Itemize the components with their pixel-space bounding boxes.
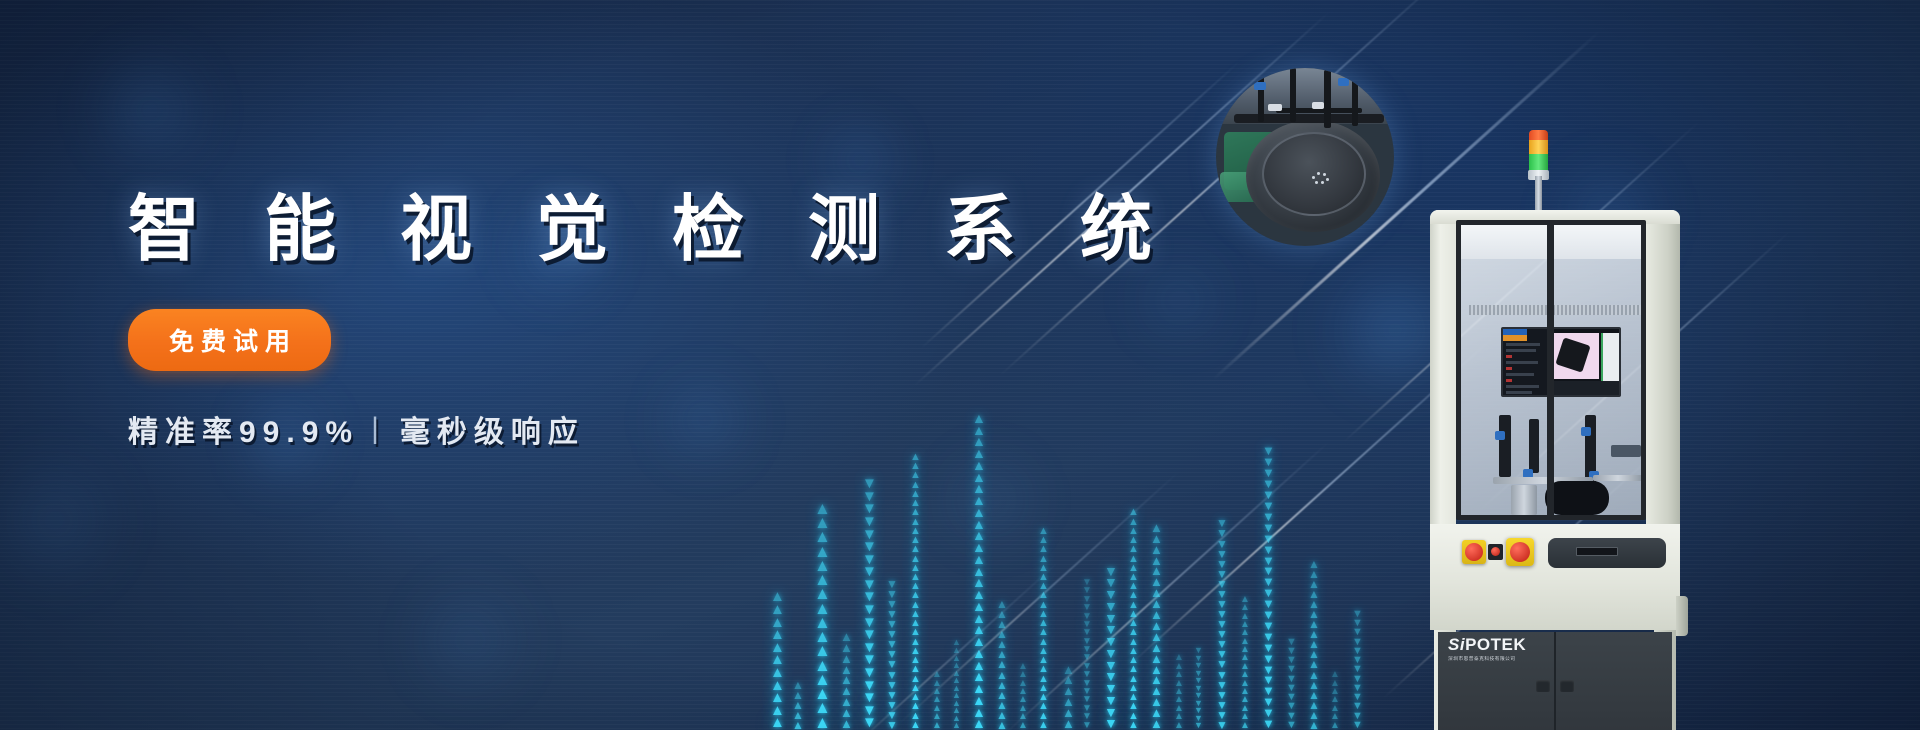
arrow-down-icon: ▼ [1104, 624, 1118, 636]
arrow-up-icon: ▲ [996, 690, 1008, 700]
arrow-up-icon: ▲ [1308, 619, 1320, 629]
arrow-down-icon: ▼ [1082, 629, 1092, 637]
arrow-up-icon: ▲ [840, 686, 853, 697]
arrow-down-icon: ▼ [1352, 702, 1363, 711]
arrow-column: ▲▲▲▲▲▲▲▲▲ [1174, 654, 1184, 730]
inset-arm-4 [1352, 76, 1358, 126]
arrow-up-icon: ▲ [972, 495, 986, 507]
arrow-down-icon: ▼ [1194, 670, 1203, 678]
arrow-up-icon: ▲ [814, 502, 831, 516]
arrow-down-icon: ▼ [1104, 636, 1118, 648]
arrow-up-icon: ▲ [792, 680, 804, 690]
arrow-up-icon: ▲ [1308, 659, 1320, 669]
arrow-down-icon: ▼ [1082, 613, 1092, 621]
door-handle-right[interactable] [1560, 680, 1574, 692]
arrow-down-icon: ▼ [862, 629, 877, 642]
arrow-up-icon: ▲ [952, 692, 961, 700]
arrow-up-icon: ▲ [1240, 596, 1250, 604]
arrow-column: ▲▲▲▲▲▲▲▲▲ [840, 632, 853, 730]
arrow-up-icon: ▲ [814, 659, 831, 673]
arrow-down-icon: ▼ [1216, 649, 1228, 659]
arrow-up-icon: ▲ [952, 685, 961, 693]
arrow-column: ▼▼▼▼▼▼▼▼▼▼▼▼▼▼▼▼▼▼▼▼▼ [1216, 518, 1228, 730]
arrow-up-icon: ▲ [1038, 628, 1049, 637]
inspection-monitor [1501, 327, 1621, 397]
arrow-up-icon: ▲ [1128, 536, 1139, 545]
arrow-up-icon: ▲ [1330, 696, 1340, 704]
arrow-down-icon: ▼ [886, 609, 898, 619]
arrow-up-icon: ▲ [1018, 688, 1028, 696]
arrow-down-icon: ▼ [862, 554, 877, 567]
hero-subline: 精准率99.9% | 毫秒级响应 [128, 407, 968, 451]
arrow-up-icon: ▲ [1128, 582, 1139, 591]
arrow-down-icon: ▼ [1082, 638, 1092, 646]
arrow-down-icon: ▼ [1216, 680, 1228, 690]
arrow-up-icon: ▲ [840, 665, 853, 676]
arrow-up-icon: ▲ [952, 715, 961, 723]
arrow-down-icon: ▼ [886, 680, 898, 690]
arrow-up-icon: ▲ [972, 554, 986, 566]
arrow-down-icon: ▼ [886, 700, 898, 710]
arrow-column: ▲▲▲▲▲▲▲▲▲▲▲▲▲ [996, 599, 1008, 730]
arrow-up-icon: ▲ [1240, 654, 1250, 662]
arrow-down-icon: ▼ [862, 680, 877, 693]
arrow-down-icon: ▼ [1286, 675, 1297, 684]
arrow-down-icon: ▼ [1104, 683, 1118, 695]
arrow-down-icon: ▼ [886, 649, 898, 659]
arrow-down-icon: ▼ [1286, 684, 1297, 693]
arrow-up-icon: ▲ [840, 643, 853, 654]
arrow-up-icon: ▲ [972, 671, 986, 683]
arrow-up-icon: ▲ [952, 722, 961, 730]
arrow-up-icon: ▲ [1038, 675, 1049, 684]
arrow-column: ▲▲▲▲▲▲▲ [932, 671, 942, 730]
arrow-down-icon: ▼ [1216, 528, 1228, 538]
arrow-down-icon: ▼ [1286, 712, 1297, 721]
arrow-up-icon: ▲ [910, 647, 921, 656]
arrow-up-icon: ▲ [972, 413, 986, 425]
arrow-up-icon: ▲ [1062, 708, 1075, 719]
arrow-down-icon: ▼ [886, 589, 898, 599]
arrow-up-icon: ▲ [1038, 536, 1049, 545]
arrow-up-icon: ▲ [814, 687, 831, 701]
arrow-up-icon: ▲ [840, 675, 853, 686]
arrow-up-icon: ▲ [1174, 671, 1184, 679]
arrow-up-icon: ▲ [1038, 545, 1049, 554]
arrow-up-icon: ▲ [1128, 684, 1139, 693]
arrow-down-icon: ▼ [1194, 655, 1203, 663]
arrow-column: ▲▲▲▲▲▲▲▲▲▲▲▲▲▲▲▲ [1240, 596, 1250, 730]
inset-blue-fitting-1 [1254, 82, 1266, 90]
arrow-down-icon: ▼ [1262, 545, 1275, 556]
emergency-stop-button-2[interactable] [1510, 542, 1530, 562]
arrow-up-icon: ▲ [1240, 713, 1250, 721]
arrow-up-icon: ▲ [1150, 577, 1163, 588]
arrow-up-icon: ▲ [932, 722, 942, 730]
arrow-up-icon: ▲ [1128, 527, 1139, 536]
arrow-up-icon: ▲ [972, 577, 986, 589]
arrow-down-icon: ▼ [1352, 712, 1363, 721]
arrow-down-icon: ▼ [1262, 588, 1275, 599]
arrow-up-icon: ▲ [932, 680, 942, 688]
arrow-up-icon: ▲ [840, 654, 853, 665]
rig-blue-block [1611, 445, 1641, 457]
arrow-down-icon: ▼ [1352, 665, 1363, 674]
inset-arm-2 [1290, 68, 1296, 122]
stack-light-pole [1535, 176, 1542, 212]
arrow-down-icon: ▼ [862, 541, 877, 554]
arrow-up-icon: ▲ [910, 508, 921, 517]
arrow-up-icon: ▲ [1308, 609, 1320, 619]
arrow-column: ▼▼▼▼▼▼▼▼▼▼▼▼▼▼▼ [886, 579, 898, 730]
arrow-up-icon: ▲ [972, 448, 986, 460]
arrow-column: ▲▲▲▲▲▲▲▲▲▲▲▲ [952, 639, 961, 730]
arrow-down-icon: ▼ [1262, 643, 1275, 654]
arrow-down-icon: ▼ [1286, 665, 1297, 674]
arrow-up-icon: ▲ [1128, 508, 1139, 517]
arrow-down-icon: ▼ [1104, 566, 1118, 578]
arrow-down-icon: ▼ [862, 491, 877, 504]
arrow-down-icon: ▼ [1286, 721, 1297, 730]
arrow-down-icon: ▼ [886, 659, 898, 669]
arrow-up-icon: ▲ [770, 591, 785, 604]
arrow-up-icon: ▲ [1128, 712, 1139, 721]
arrow-up-icon: ▲ [770, 642, 785, 655]
arrow-up-icon: ▲ [814, 530, 831, 544]
arrow-down-icon: ▼ [1104, 613, 1118, 625]
arrow-up-icon: ▲ [1150, 675, 1163, 686]
arrow-up-icon: ▲ [1150, 534, 1163, 545]
arrow-up-icon: ▲ [1038, 647, 1049, 656]
hero-content: 智 能 视 觉 检 测 系 统 免费试用 精准率99.9% | 毫秒级响应 [128, 170, 968, 451]
arrow-up-icon: ▲ [1174, 696, 1184, 704]
arrow-up-icon: ▲ [1308, 690, 1320, 700]
arrow-up-icon: ▲ [1062, 697, 1075, 708]
arrow-down-icon: ▼ [1352, 619, 1363, 628]
arrow-down-icon: ▼ [1216, 569, 1228, 579]
arrow-down-icon: ▼ [1082, 579, 1092, 587]
arrow-down-icon: ▼ [1194, 700, 1203, 708]
emergency-stop-button-1[interactable] [1465, 543, 1483, 561]
arrow-up-icon: ▲ [792, 700, 804, 710]
arrow-up-icon: ▲ [1038, 721, 1049, 730]
arrow-down-icon: ▼ [1104, 589, 1118, 601]
arrow-down-icon: ▼ [1194, 692, 1203, 700]
arrow-up-icon: ▲ [1038, 527, 1049, 536]
arrow-up-icon: ▲ [1240, 663, 1250, 671]
arrow-up-icon: ▲ [1038, 619, 1049, 628]
arrow-up-icon: ▲ [1330, 705, 1340, 713]
free-trial-button[interactable]: 免费试用 [128, 309, 331, 371]
page-title: 智 能 视 觉 检 测 系 统 [128, 170, 968, 275]
arrow-up-icon: ▲ [910, 693, 921, 702]
arrow-up-icon: ▲ [1128, 601, 1139, 610]
rig-right-rail [1593, 475, 1643, 481]
arrow-up-icon: ▲ [910, 601, 921, 610]
inset-arm-3 [1324, 70, 1331, 128]
arrow-up-icon: ▲ [1018, 713, 1028, 721]
arrow-up-icon: ▲ [1174, 705, 1184, 713]
arrow-down-icon: ▼ [1262, 457, 1275, 468]
arrow-column: ▲▲▲▲▲▲▲▲▲▲▲▲▲▲▲▲▲▲▲ [1150, 523, 1163, 730]
arrow-up-icon: ▲ [1018, 696, 1028, 704]
arrow-up-icon: ▲ [1150, 632, 1163, 643]
arrow-down-icon: ▼ [1262, 632, 1275, 643]
arrow-up-icon: ▲ [996, 619, 1008, 629]
arrow-up-icon: ▲ [972, 542, 986, 554]
arrow-down-icon: ▼ [1104, 718, 1118, 730]
arrow-up-icon: ▲ [972, 436, 986, 448]
arrow-up-icon: ▲ [910, 591, 921, 600]
monitor-orange-bar [1503, 335, 1527, 341]
arrow-up-icon: ▲ [792, 710, 804, 720]
arrow-up-icon: ▲ [972, 507, 986, 519]
arrow-up-icon: ▲ [972, 636, 986, 648]
arrow-down-icon: ▼ [1262, 621, 1275, 632]
arrow-up-icon: ▲ [1240, 604, 1250, 612]
brand-name-potek: POTEK [1465, 635, 1526, 654]
arrow-down-icon: ▼ [862, 529, 877, 542]
arrow-down-icon: ▼ [1262, 719, 1275, 730]
rig-cable-loop [1545, 481, 1609, 515]
arrow-up-icon: ▲ [932, 688, 942, 696]
arrow-down-icon: ▼ [886, 690, 898, 700]
arrow-up-icon: ▲ [972, 566, 986, 578]
arrow-up-icon: ▲ [1174, 688, 1184, 696]
arrow-up-icon: ▲ [814, 673, 831, 687]
bokeh-glow [0, 450, 125, 590]
rig-fixture [1511, 485, 1537, 515]
arrow-down-icon: ▼ [1216, 639, 1228, 649]
arrow-up-icon: ▲ [1240, 613, 1250, 621]
arrow-column: ▲▲▲▲▲▲▲▲▲▲▲▲▲▲▲▲ [814, 502, 831, 730]
arrow-down-icon: ▼ [1262, 490, 1275, 501]
arrow-up-icon: ▲ [770, 617, 785, 630]
arrow-down-icon: ▼ [1216, 670, 1228, 680]
arrow-down-icon: ▼ [1262, 675, 1275, 686]
arrow-up-icon: ▲ [814, 559, 831, 573]
arrow-down-icon: ▼ [1352, 628, 1363, 637]
arrow-up-icon: ▲ [972, 519, 986, 531]
arrow-up-icon: ▲ [910, 536, 921, 545]
arrow-up-icon: ▲ [1038, 555, 1049, 564]
arrow-up-icon: ▲ [1240, 646, 1250, 654]
arrow-down-icon: ▼ [1104, 695, 1118, 707]
arrow-down-icon: ▼ [862, 579, 877, 592]
arrow-up-icon: ▲ [1018, 722, 1028, 730]
arrow-up-icon: ▲ [1038, 665, 1049, 674]
arrow-up-icon: ▲ [972, 601, 986, 613]
arrow-up-icon: ▲ [996, 609, 1008, 619]
arrow-up-icon: ▲ [770, 680, 785, 693]
arrow-down-icon: ▼ [1262, 523, 1275, 534]
rig-blue-fitting-3 [1581, 427, 1591, 436]
monitor-bottom-log [1547, 381, 1621, 397]
arrow-up-icon: ▲ [910, 619, 921, 628]
brand-name-text: SiPOTEK [1448, 636, 1568, 653]
arrow-down-icon: ▼ [862, 591, 877, 604]
arrow-up-icon: ▲ [1330, 680, 1340, 688]
arrow-up-icon: ▲ [1128, 628, 1139, 637]
arrow-up-icon: ▲ [814, 602, 831, 616]
arrow-down-icon: ▼ [1352, 638, 1363, 647]
arrow-down-icon: ▼ [1262, 654, 1275, 665]
arrow-up-icon: ▲ [952, 639, 961, 647]
arrow-down-icon: ▼ [862, 503, 877, 516]
arrow-up-icon: ▲ [996, 680, 1008, 690]
arrow-up-icon: ▲ [972, 660, 986, 672]
arrow-up-icon: ▲ [910, 527, 921, 536]
arrow-down-icon: ▼ [1216, 549, 1228, 559]
arrow-up-icon: ▲ [952, 670, 961, 678]
arrow-up-icon: ▲ [1128, 656, 1139, 665]
arrow-up-icon: ▲ [814, 630, 831, 644]
arrow-up-icon: ▲ [814, 716, 831, 730]
arrow-down-icon: ▼ [1262, 697, 1275, 708]
arrow-up-icon: ▲ [1174, 663, 1184, 671]
arrow-down-icon: ▼ [1194, 647, 1203, 655]
arrow-column: ▼▼▼▼▼▼▼▼▼▼▼▼▼ [1352, 610, 1363, 730]
arrow-up-icon: ▲ [972, 613, 986, 625]
arrow-down-icon: ▼ [1216, 619, 1228, 629]
arrow-down-icon: ▼ [886, 639, 898, 649]
arrow-up-icon: ▲ [1038, 610, 1049, 619]
arrow-up-icon: ▲ [1308, 629, 1320, 639]
arrow-up-icon: ▲ [1018, 671, 1028, 679]
arrow-up-icon: ▲ [1150, 686, 1163, 697]
light-streak [1002, 440, 1330, 730]
arrow-up-icon: ▲ [1240, 688, 1250, 696]
arrow-up-icon: ▲ [1330, 671, 1340, 679]
arrow-up-icon: ▲ [1150, 566, 1163, 577]
arrow-up-icon: ▲ [1150, 599, 1163, 610]
arrow-down-icon: ▼ [862, 478, 877, 491]
arrow-down-icon: ▼ [886, 619, 898, 629]
arrow-up-icon: ▲ [1128, 545, 1139, 554]
arrow-up-icon: ▲ [972, 624, 986, 636]
arrow-down-icon: ▼ [862, 617, 877, 630]
arrow-down-icon: ▼ [1262, 479, 1275, 490]
arrow-up-icon: ▲ [814, 573, 831, 587]
arrow-down-icon: ▼ [1082, 596, 1092, 604]
product-machine-cabinet: SiPOTEK 深圳市思普泰克科技有限公司 [1430, 140, 1680, 710]
arrow-up-icon: ▲ [1150, 665, 1163, 676]
bokeh-glow [410, 580, 530, 700]
arrow-down-icon: ▼ [1216, 629, 1228, 639]
arrow-up-icon: ▲ [840, 697, 853, 708]
arrow-up-icon: ▲ [910, 453, 921, 462]
arrow-up-icon: ▲ [1308, 649, 1320, 659]
arrow-up-icon: ▲ [996, 649, 1008, 659]
arrow-up-icon: ▲ [932, 713, 942, 721]
arrow-up-icon: ▲ [996, 700, 1008, 710]
arrow-down-icon: ▼ [1352, 610, 1363, 619]
arrow-down-icon: ▼ [1352, 693, 1363, 702]
arrow-up-icon: ▲ [972, 425, 986, 437]
bokeh-glow [92, 52, 208, 168]
arrow-down-icon: ▼ [1082, 671, 1092, 679]
arrow-up-icon: ▲ [1038, 638, 1049, 647]
arrow-column: ▲▲▲▲▲ [792, 680, 804, 730]
arrow-up-icon: ▲ [814, 616, 831, 630]
arrow-up-icon: ▲ [952, 677, 961, 685]
arrow-up-icon: ▲ [972, 707, 986, 719]
arrow-up-icon: ▲ [972, 683, 986, 695]
rig-blue-fitting-1 [1495, 431, 1505, 440]
arrow-up-icon: ▲ [1128, 638, 1139, 647]
arrow-up-icon: ▲ [1308, 589, 1320, 599]
arrow-up-icon: ▲ [972, 718, 986, 730]
brand-name-si: Si [1448, 635, 1465, 654]
arrow-up-icon: ▲ [1240, 638, 1250, 646]
arrow-up-icon: ▲ [1150, 643, 1163, 654]
arrow-down-icon: ▼ [862, 654, 877, 667]
arrow-down-icon: ▼ [1216, 720, 1228, 730]
arrow-up-icon: ▲ [840, 708, 853, 719]
arrow-down-icon: ▼ [886, 720, 898, 730]
monitor-param-rows [1506, 343, 1544, 397]
arrow-down-icon: ▼ [1104, 601, 1118, 613]
arrow-up-icon: ▲ [972, 483, 986, 495]
arrow-down-icon: ▼ [1286, 638, 1297, 647]
arrow-down-icon: ▼ [1352, 721, 1363, 730]
arrow-up-icon: ▲ [910, 499, 921, 508]
arrow-up-icon: ▲ [1150, 610, 1163, 621]
arrow-down-icon: ▼ [1194, 685, 1203, 693]
arrow-up-icon: ▲ [972, 530, 986, 542]
window-center-mullion [1547, 220, 1554, 520]
arrow-up-icon: ▲ [1308, 579, 1320, 589]
arrow-up-icon: ▲ [1018, 705, 1028, 713]
arrow-up-icon: ▲ [1174, 680, 1184, 688]
arrow-up-icon: ▲ [996, 720, 1008, 730]
arrow-down-icon: ▼ [1104, 707, 1118, 719]
readout-display-slot [1576, 547, 1618, 556]
arrow-up-icon: ▲ [1240, 705, 1250, 713]
arrow-up-icon: ▲ [910, 573, 921, 582]
arrow-down-icon: ▼ [1216, 518, 1228, 528]
arrow-up-icon: ▲ [1038, 582, 1049, 591]
arrow-up-icon: ▲ [910, 702, 921, 711]
arrow-up-icon: ▲ [1128, 647, 1139, 656]
arrow-up-icon: ▲ [932, 705, 942, 713]
rig-column-left [1499, 415, 1511, 477]
arrow-column: ▲▲▲▲▲▲▲▲▲▲▲▲▲▲▲▲▲▲▲▲▲▲▲▲▲▲▲ [972, 413, 986, 730]
arrow-down-icon: ▼ [1216, 599, 1228, 609]
arrow-up-icon: ▲ [1062, 686, 1075, 697]
arrow-up-icon: ▲ [792, 720, 804, 730]
arrow-down-icon: ▼ [1216, 579, 1228, 589]
arrow-up-icon: ▲ [952, 707, 961, 715]
arrow-up-icon: ▲ [910, 555, 921, 564]
arrow-up-icon: ▲ [1240, 696, 1250, 704]
arrow-up-icon: ▲ [814, 644, 831, 658]
inset-white-fitting-2 [1312, 102, 1324, 109]
arrow-down-icon: ▼ [1352, 684, 1363, 693]
arrow-up-icon: ▲ [1308, 639, 1320, 649]
arrow-down-icon: ▼ [862, 604, 877, 617]
arrow-up-icon: ▲ [1128, 693, 1139, 702]
arrow-up-icon: ▲ [996, 629, 1008, 639]
inset-photo-turntable [1216, 68, 1394, 246]
arrow-column: ▲▲▲▲▲▲▲▲▲▲▲ [770, 591, 785, 730]
door-handle-left[interactable] [1536, 680, 1550, 692]
arrow-down-icon: ▼ [1216, 609, 1228, 619]
arrow-down-icon: ▼ [862, 717, 877, 730]
arrow-up-icon: ▲ [1038, 573, 1049, 582]
arrow-up-icon: ▲ [972, 695, 986, 707]
arrow-down-icon: ▼ [886, 670, 898, 680]
